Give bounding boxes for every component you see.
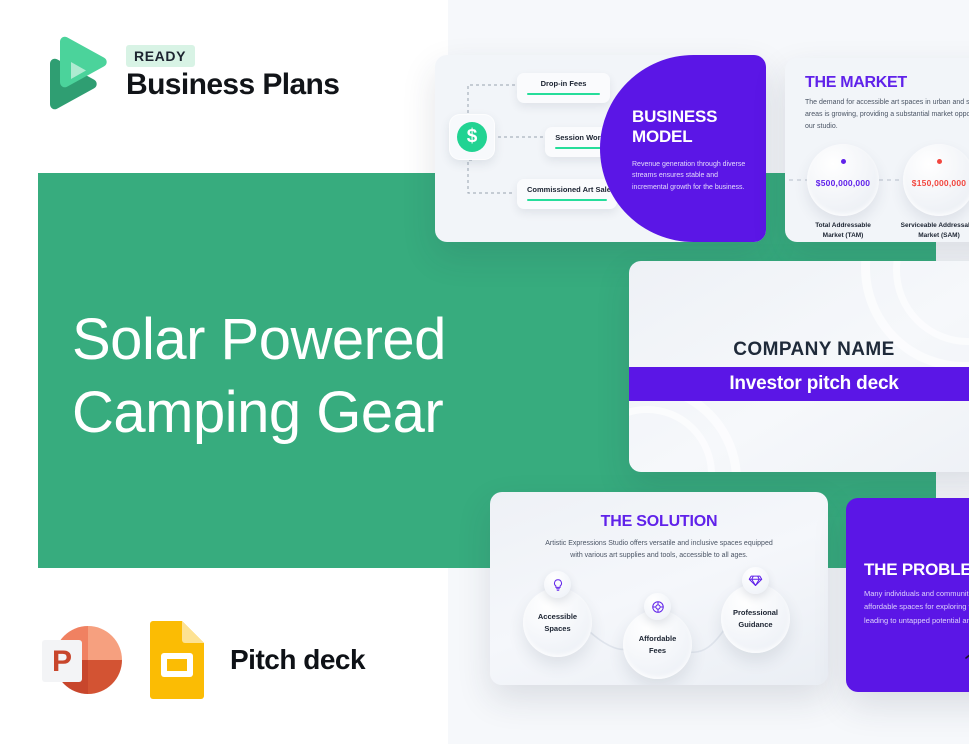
solution-node-accessible-spaces: Accessible Spaces xyxy=(523,588,592,657)
slide-the-problem[interactable]: THE PROBLEM Many individuals and communi… xyxy=(846,498,969,692)
brand-text-block: READY Business Plans xyxy=(126,45,339,101)
ready-badge: READY xyxy=(126,45,195,67)
business-model-heading: BUSINESS MODEL xyxy=(632,107,717,146)
solution-node-professional-guidance: Professional Guidance xyxy=(721,584,790,653)
revenue-chip-commissioned-art-sales[interactable]: Commissioned Art Sales xyxy=(517,179,617,209)
chip-underline xyxy=(527,199,607,201)
revenue-chip-drop-in-fees[interactable]: Drop-in Fees xyxy=(517,73,610,103)
dollar-sign-icon: $ xyxy=(449,114,495,160)
metric-knob-tam: $500,000,000 xyxy=(807,144,879,216)
problem-body: Many individuals and communities lack ac… xyxy=(864,587,969,627)
solution-node-label: Professional Guidance xyxy=(733,607,778,630)
chip-label: Commissioned Art Sales xyxy=(527,185,607,194)
metric-caption-sam: Serviceable Addressable Market (SAM) xyxy=(891,221,969,241)
brand-name: Business Plans xyxy=(126,69,339,101)
curved-arrow-icon xyxy=(964,640,969,680)
svg-text:P: P xyxy=(52,645,72,678)
lightbulb-icon xyxy=(544,571,571,598)
google-slides-icon xyxy=(146,621,208,699)
slide-the-market[interactable]: THE MARKET The demand for accessible art… xyxy=(785,58,969,242)
solution-node-label: Affordable Fees xyxy=(639,633,677,656)
chip-label: Drop-in Fees xyxy=(527,79,600,88)
double-play-triangle-logo xyxy=(38,36,112,110)
poster-canvas: READY Business Plans Solar Powered Campi… xyxy=(0,0,969,744)
format-label: Pitch deck xyxy=(230,644,365,676)
dollar-symbol: $ xyxy=(457,122,487,152)
chip-underline xyxy=(527,93,600,95)
format-footer: P Pitch deck xyxy=(40,620,365,700)
problem-heading: THE PROBLEM xyxy=(864,560,969,580)
company-name: COMPANY NAME xyxy=(629,339,969,361)
solution-node-label: Accessible Spaces xyxy=(538,611,577,634)
metric-dot xyxy=(937,159,942,164)
slide-company-name[interactable]: COMPANY NAME Investor pitch deck xyxy=(629,261,969,472)
metric-value-sam: $150,000,000 xyxy=(903,178,969,188)
brand-lockup: READY Business Plans xyxy=(38,36,339,110)
investor-deck-label: Investor pitch deck xyxy=(729,373,898,395)
metric-caption-tam: Total Addressable Market (TAM) xyxy=(795,221,891,241)
page-title: Solar Powered Camping Gear xyxy=(72,303,446,449)
metric-knob-sam: $150,000,000 xyxy=(903,144,969,216)
metric-value-tam: $500,000,000 xyxy=(807,178,879,188)
solution-node-affordable-fees: Affordable Fees xyxy=(623,610,692,679)
slide-business-model[interactable]: $ Drop-in Fees Session Workshops Commiss… xyxy=(435,55,766,242)
lifebuoy-icon xyxy=(644,593,671,620)
powerpoint-icon: P xyxy=(40,620,124,700)
slide-the-solution[interactable]: THE SOLUTION Artistic Expressions Studio… xyxy=(490,492,828,685)
investor-deck-band: Investor pitch deck xyxy=(629,367,969,401)
metric-dot xyxy=(841,159,846,164)
diamond-icon xyxy=(742,567,769,594)
business-model-body: Revenue generation through diverse strea… xyxy=(632,159,754,193)
